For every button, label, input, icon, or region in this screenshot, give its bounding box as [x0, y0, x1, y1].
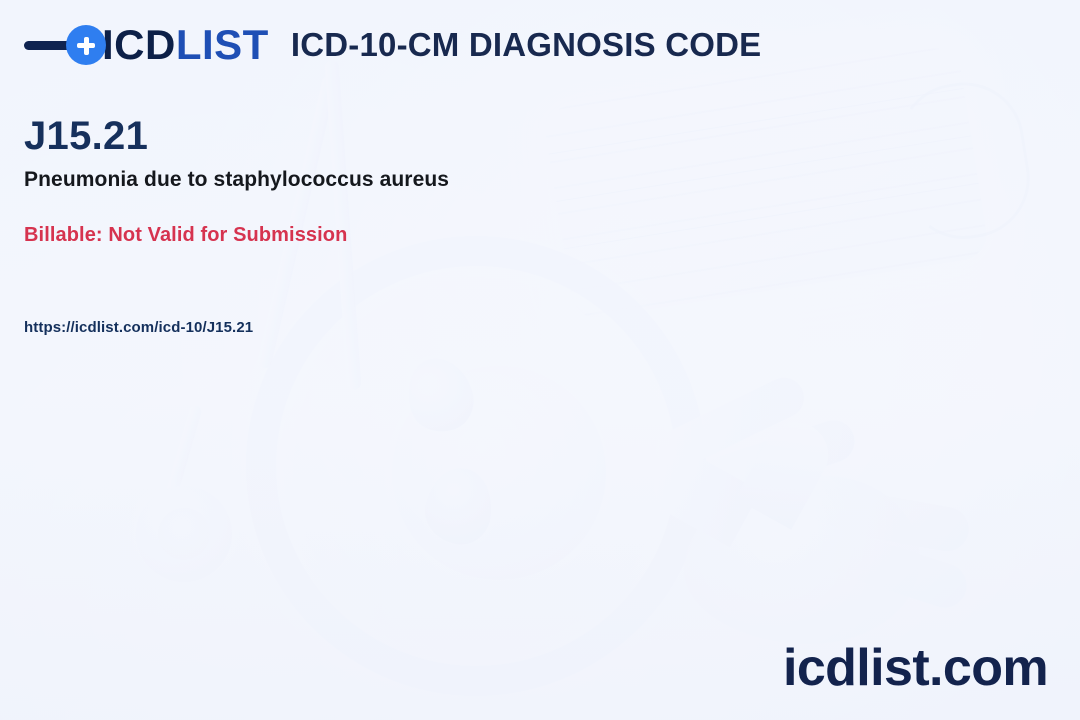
brand-footer: icdlist.com: [783, 638, 1048, 698]
icdlist-logo[interactable]: ICDLIST: [24, 24, 269, 66]
page-header: ICDLIST ICD-10-CM DIAGNOSIS CODE: [24, 24, 761, 66]
logo-word-primary: ICD: [102, 21, 176, 68]
card-content: ICDLIST ICD-10-CM DIAGNOSIS CODE J15.21 …: [0, 0, 1080, 720]
code-url-link[interactable]: https://icdlist.com/icd-10/J15.21: [24, 319, 253, 336]
diagnosis-code: J15.21: [24, 114, 148, 159]
plus-circle-icon: [66, 25, 106, 65]
diagnosis-description: Pneumonia due to staphylococcus aureus: [24, 168, 449, 192]
logo-word-secondary: LIST: [176, 21, 269, 68]
icd-code-card: ICDLIST ICD-10-CM DIAGNOSIS CODE J15.21 …: [0, 0, 1080, 720]
billable-status-badge: Billable: Not Valid for Submission: [24, 224, 347, 247]
logo-wordmark: ICDLIST: [102, 24, 269, 66]
page-title: ICD-10-CM DIAGNOSIS CODE: [291, 26, 762, 64]
logo-dash-icon: [24, 41, 72, 50]
